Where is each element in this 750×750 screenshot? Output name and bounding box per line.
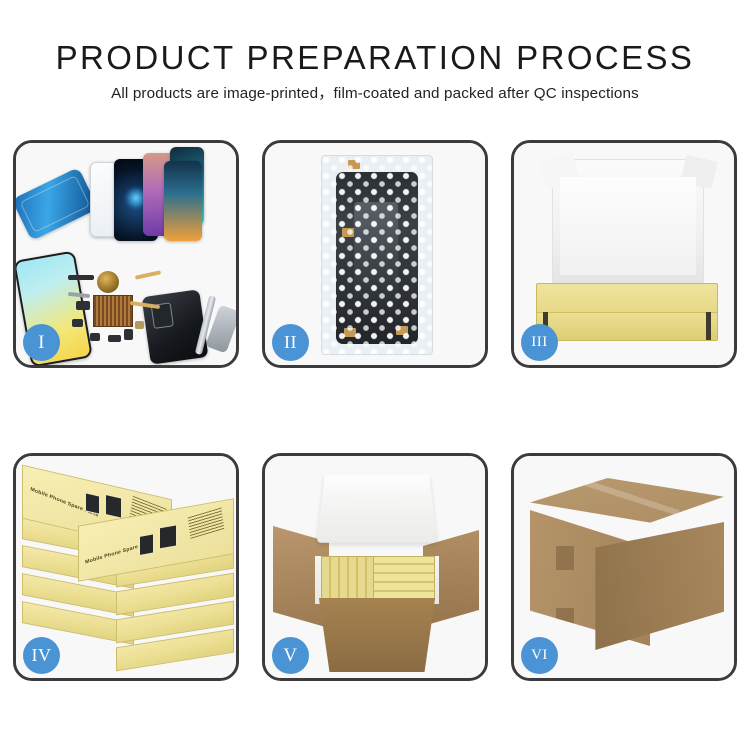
chip-part-icon bbox=[68, 275, 94, 280]
carton-tab-icon bbox=[556, 608, 574, 632]
process-step-panel-1: I bbox=[13, 140, 239, 368]
process-step-panel-4: Mobile Phone Spare Parts Mobile Phone Sp… bbox=[13, 453, 239, 681]
box-label-screen-image bbox=[105, 494, 122, 519]
box-label-screen-image bbox=[85, 492, 100, 514]
process-step-panel-3: III bbox=[511, 140, 737, 368]
process-step-panel-2: II bbox=[262, 140, 488, 368]
yellow-kraft-box-open bbox=[536, 283, 718, 341]
flex-cable-icon bbox=[135, 270, 161, 279]
step-badge-6: VI bbox=[521, 637, 558, 674]
chip-part-icon bbox=[108, 335, 121, 342]
logic-board-icon bbox=[93, 295, 133, 327]
step-badge-2: II bbox=[272, 324, 309, 361]
chip-part-icon bbox=[76, 301, 90, 310]
process-step-panel-6: VI bbox=[511, 453, 737, 681]
orange-gradient-phone-icon bbox=[164, 161, 202, 241]
box-label-screen-image bbox=[139, 533, 154, 556]
page-title: PRODUCT PREPARATION PROCESS bbox=[0, 38, 750, 78]
blue-phone-panel-icon bbox=[13, 167, 98, 241]
product-preparation-process-page: PRODUCT PREPARATION PROCESS All products… bbox=[0, 0, 750, 750]
step-badge-1: I bbox=[23, 324, 60, 361]
camera-module-icon bbox=[97, 271, 119, 293]
foam-box-lid bbox=[317, 474, 437, 543]
bubble-texture bbox=[322, 156, 432, 354]
step-badge-3: III bbox=[521, 324, 558, 361]
page-subtitle: All products are image-printed，film-coat… bbox=[0, 84, 750, 104]
bubble-wrap-bag bbox=[321, 155, 433, 355]
carton-tab-icon bbox=[556, 546, 574, 570]
yellow-boxes-in-foam bbox=[373, 556, 435, 600]
chip-part-icon bbox=[72, 319, 83, 327]
carton-body bbox=[311, 598, 443, 672]
chip-part-icon bbox=[135, 321, 144, 329]
header: PRODUCT PREPARATION PROCESS All products… bbox=[0, 38, 750, 104]
white-foam-sheet bbox=[560, 177, 696, 275]
step-badge-4: IV bbox=[23, 637, 60, 674]
carton-tape-seam bbox=[554, 470, 679, 516]
process-step-panel-5: V bbox=[262, 453, 488, 681]
process-steps-grid: I II bbox=[13, 140, 737, 680]
chip-part-icon bbox=[90, 333, 100, 341]
chip-part-icon bbox=[124, 329, 133, 340]
step-badge-5: V bbox=[272, 637, 309, 674]
box-label-screen-image bbox=[159, 524, 177, 549]
sealed-carton bbox=[530, 478, 724, 656]
box-corner-shadow bbox=[706, 312, 711, 340]
box-front-face bbox=[537, 312, 717, 340]
